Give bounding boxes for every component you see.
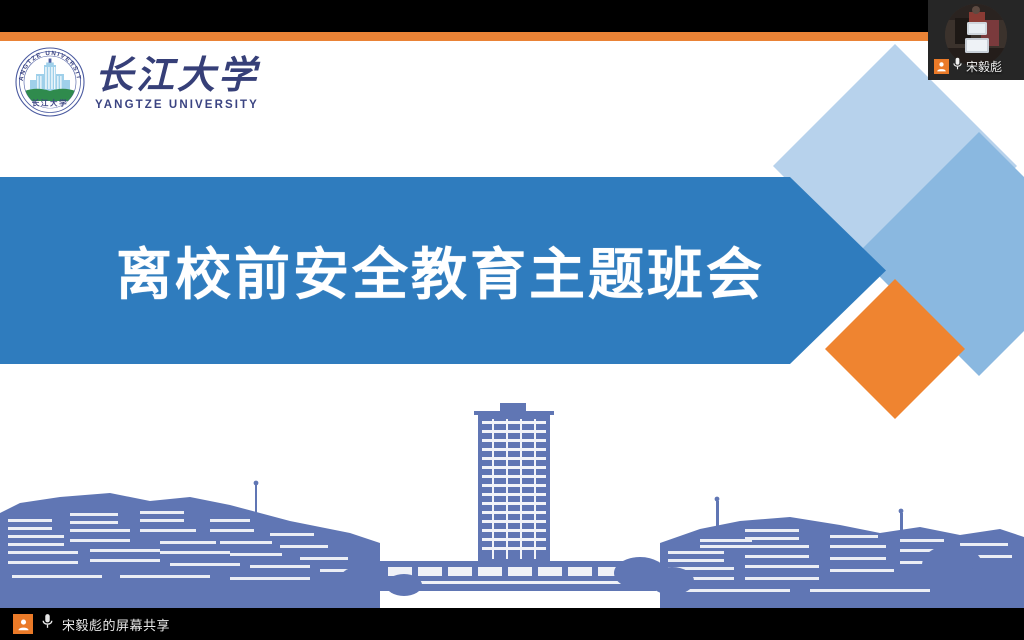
microphone-icon bbox=[41, 613, 54, 635]
campus-skyline-illustration bbox=[0, 393, 1024, 608]
svg-text:长江大学: 长江大学 bbox=[32, 98, 68, 108]
participant-name: 宋毅彪 bbox=[966, 58, 1002, 75]
slide-orange-stripe bbox=[0, 32, 1024, 41]
university-seal-icon: YANGTZE UNIVERSITY 长江大学 bbox=[14, 46, 86, 118]
top-chrome-bar bbox=[0, 0, 1024, 32]
wordmark-en: YANGTZE UNIVERSITY bbox=[95, 99, 259, 111]
participant-tile-footer: 宋毅彪 bbox=[928, 57, 1024, 76]
university-logo: YANGTZE UNIVERSITY 长江大学 长江大学 YANGTZE UNI… bbox=[14, 46, 259, 118]
microphone-icon bbox=[952, 57, 963, 76]
meeting-screen: 离校前安全教育主题班会 bbox=[0, 0, 1024, 640]
share-bar-label: 宋毅彪的屏幕共享 bbox=[62, 615, 170, 634]
wordmark-cn: 长江大学 bbox=[95, 57, 259, 97]
participant-video-tile[interactable]: 宋毅彪 bbox=[928, 0, 1024, 80]
slide-title: 离校前安全教育主题班会 bbox=[0, 177, 830, 364]
university-wordmark: 长江大学 YANGTZE UNIVERSITY bbox=[95, 53, 259, 112]
screen-share-bar[interactable]: 宋毅彪的屏幕共享 bbox=[0, 608, 1024, 640]
person-icon bbox=[934, 59, 949, 74]
person-icon bbox=[13, 614, 33, 634]
shared-slide: 离校前安全教育主题班会 bbox=[0, 32, 1024, 608]
